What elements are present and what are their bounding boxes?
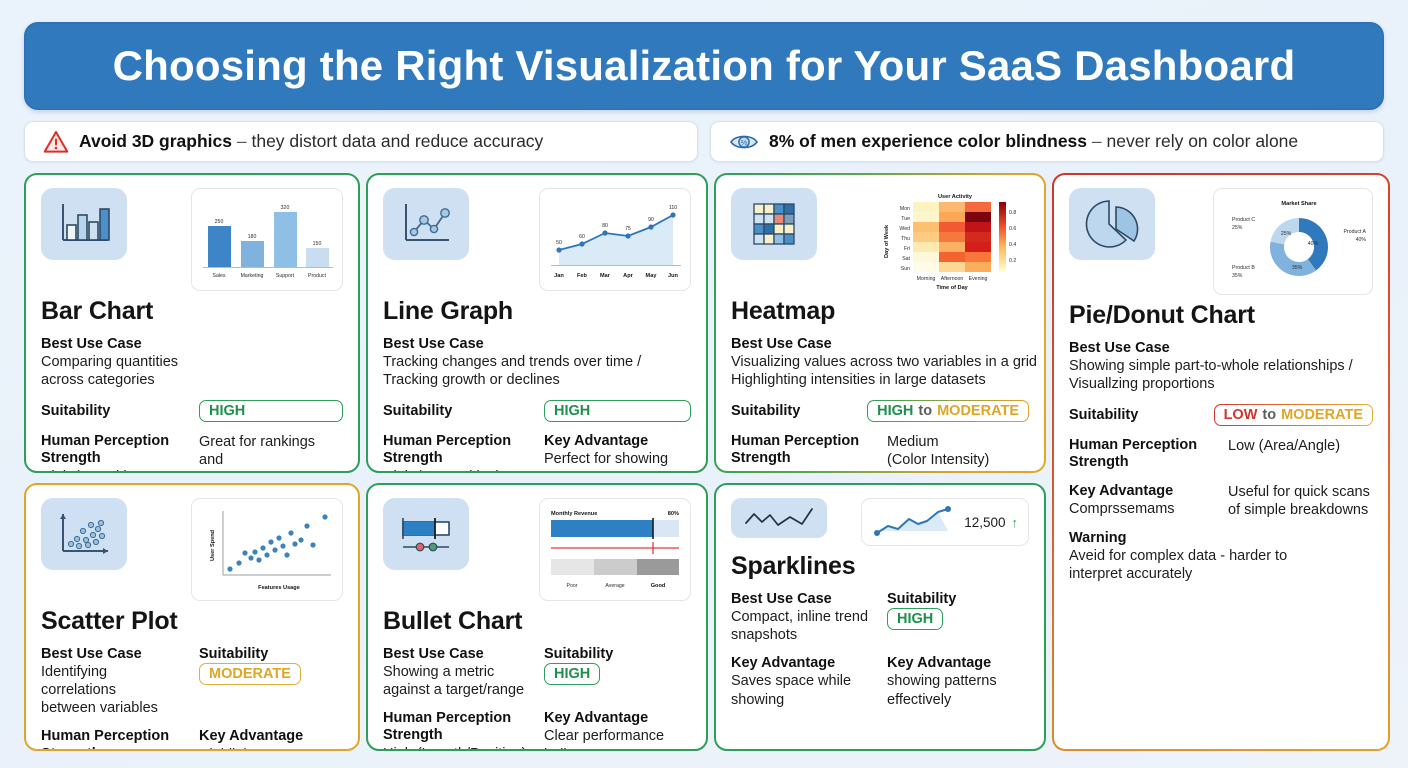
callout-avoid-3d-text: Avoid 3D graphics – they distort data an…	[79, 131, 543, 152]
svg-text:35%: 35%	[1232, 273, 1243, 279]
svg-text:Features Usage: Features Usage	[258, 585, 300, 591]
svg-text:25%: 25%	[1281, 231, 1292, 237]
scatter-plot-advantage-line1: Highlights relationships	[199, 746, 343, 751]
svg-text:Poor: Poor	[567, 583, 578, 589]
svg-text:60: 60	[579, 234, 585, 240]
bar-chart-perception-value: High (Length)	[41, 468, 185, 473]
line-graph-perception: Human Perception Strength High (2D Posit…	[383, 433, 530, 473]
heatmap-strength-label: Strength	[731, 450, 873, 467]
card-sparklines[interactable]: 12,500 ↑ Sparklines Best Use Case Compac…	[714, 483, 1046, 751]
sparklines-value: 12,500	[964, 515, 1005, 530]
sparklines-suitability-value: HIGH	[897, 611, 933, 627]
line-graph-advantage-line2: fluctuations and trends	[544, 469, 691, 473]
pie-donut-advantage-sub: Comprssemams	[1069, 500, 1214, 518]
scatter-plot-perception-label: Human Perception	[41, 728, 185, 745]
heatmap-perception-label: Human Perception	[731, 433, 873, 450]
line-graph-perception-label: Human Perception	[383, 433, 530, 450]
card-scatter-plot[interactable]: User Spend Features Usage	[24, 483, 360, 751]
svg-text:Product B: Product B	[1232, 265, 1255, 271]
bar-chart-perception-label: Human Perception	[41, 433, 185, 450]
card-line-graph-head: 50 60 80 75 90 110 Jan Feb Mar Apr May J…	[383, 188, 691, 291]
scatter-plot-top-row: Best Use Case Identifying correlations b…	[41, 646, 343, 728]
callout-color-blindness: % 8% of men experience color blindness –…	[710, 121, 1384, 162]
pie-donut-perception-row: Human Perception Strength Low (Area/Angl…	[1069, 437, 1373, 482]
callout-color-blindness-dash: –	[1087, 131, 1106, 151]
bullet-chart-perception-value: High (Length/Position)	[383, 745, 530, 751]
svg-text:320: 320	[281, 205, 290, 211]
svg-text:0.4: 0.4	[1009, 242, 1016, 248]
svg-text:Mar: Mar	[600, 273, 611, 279]
line-graph-advantage: Key Advantage Perfect for showing fluctu…	[544, 433, 691, 473]
sparklines-best-use: Best Use Case Compact, inline trend snap…	[731, 591, 873, 644]
svg-text:0.2: 0.2	[1009, 258, 1016, 264]
svg-text:50: 50	[556, 240, 562, 246]
svg-text:0.6: 0.6	[1009, 226, 1016, 232]
line-graph-bottom-row: Human Perception Strength High (2D Posit…	[383, 433, 691, 473]
pie-donut-suitability-badge: LOW to MODERATE	[1214, 404, 1373, 426]
svg-text:User Spend: User Spend	[210, 529, 216, 561]
svg-text:150: 150	[313, 241, 322, 247]
bullet-chart-suitability-label: Suitability	[544, 646, 691, 663]
bar-chart-suitability-label: Suitability	[41, 403, 185, 419]
bar-chart-strength-label: Strength	[41, 450, 185, 467]
bullet-chart-advantage-line2: indicators	[544, 746, 691, 751]
svg-text:Average: Average	[605, 583, 624, 589]
card-bullet-chart-head: Monthly Revenue 80% Poor Average Good	[383, 498, 691, 601]
card-heatmap-head: User Activity Day of Week MonT	[731, 188, 1029, 293]
bar-chart-best-use-line2: across categories	[41, 371, 343, 389]
bullet-chart-preview: Monthly Revenue 80% Poor Average Good	[539, 498, 691, 601]
svg-text:Time of Day: Time of Day	[936, 285, 968, 291]
card-bar-chart-title: Bar Chart	[41, 297, 343, 326]
bullet-chart-advantage-line1: Clear performance	[544, 727, 691, 745]
card-sparklines-head: 12,500 ↑	[731, 498, 1029, 546]
svg-text:40%: 40%	[1356, 237, 1367, 243]
card-bar-chart[interactable]: 250 180 320 150 Sales Marketing Support …	[24, 173, 360, 473]
card-heatmap[interactable]: User Activity Day of Week MonT	[714, 173, 1046, 473]
pie-donut-perception: Human Perception Strength	[1069, 437, 1214, 471]
sparklines-suitability-badge: HIGH	[887, 608, 943, 630]
heatmap-best-use-label: Best Use Case	[731, 336, 1029, 353]
heatmap-suitability-joiner: to	[918, 403, 932, 419]
sparklines-suitability-label: Suitability	[887, 591, 1029, 608]
bar-chart-suitability-row: Suitability HIGH	[41, 400, 343, 422]
bar-chart-best-use: Best Use Case Comparing quantities acros…	[41, 336, 343, 389]
bar-chart-bottom-row: Human Perception Strength High (Length) …	[41, 433, 343, 473]
bullet-chart-icon	[383, 498, 469, 570]
bullet-chart-suitability-value: HIGH	[554, 666, 590, 682]
pie-donut-warning: Warning Aveid for complex data - harder …	[1069, 530, 1373, 583]
heatmap-perception: Human Perception Strength	[731, 433, 873, 469]
bullet-chart-perception: Human Perception Strength High (Length/P…	[383, 710, 530, 751]
heatmap-perception-values: Medium (Color Intensity)	[887, 433, 1029, 469]
sparklines-preview: 12,500 ↑	[861, 498, 1029, 546]
pie-donut-advantage-line2: of simple breakdowns	[1228, 501, 1373, 519]
pie-donut-strength-label: Strength	[1069, 454, 1214, 471]
card-line-graph-title: Line Graph	[383, 297, 691, 326]
sparklines-advantage-right-line2: effectively	[887, 691, 1029, 709]
bar-chart-preview: 250 180 320 150 Sales Marketing Support …	[191, 188, 343, 291]
svg-text:Market Share: Market Share	[1281, 201, 1316, 207]
pie-donut-best-use-label: Best Use Case	[1069, 340, 1373, 357]
card-scatter-plot-title: Scatter Plot	[41, 607, 343, 636]
svg-text:35%: 35%	[1292, 265, 1303, 271]
scatter-plot-strength-label: Strength	[41, 746, 185, 751]
heatmap-suitability-part2: MODERATE	[937, 403, 1019, 419]
sparklines-best-use-line2: snapshots	[731, 626, 873, 644]
line-graph-icon	[383, 188, 469, 260]
card-pie-donut-title: Pie/Donut Chart	[1069, 301, 1373, 330]
heatmap-best-use-line2: Highlighting intensities in large datase…	[731, 371, 1029, 389]
line-graph-best-use: Best Use Case Tracking changes and trend…	[383, 336, 691, 389]
pie-donut-perception-label: Human Perception	[1069, 437, 1214, 454]
svg-text:Sales: Sales	[213, 273, 226, 279]
svg-text:Product: Product	[308, 273, 326, 279]
scatter-plot-advantage: Key Advantage Highlights relationships a…	[199, 728, 343, 751]
scatter-plot-suitability: Suitability MODERATE	[199, 646, 343, 717]
line-graph-strength-label: Strength	[383, 450, 530, 467]
heatmap-perception-line1: Medium	[887, 433, 1029, 451]
card-pie-donut-chart[interactable]: Market Share 40% 35% 25% Product A 40%	[1052, 173, 1390, 751]
scatter-plot-suitability-value: MODERATE	[209, 666, 291, 682]
pie-donut-advantage-label: Key Advantage	[1069, 483, 1214, 500]
pie-donut-perception-values: Low (Area/Angle)	[1228, 437, 1373, 471]
svg-text:Afternoon: Afternoon	[941, 276, 964, 282]
pie-donut-suitability-row: Suitability LOW to MODERATE	[1069, 404, 1373, 426]
bullet-chart-strength-label: Strength	[383, 727, 530, 744]
svg-text:40%: 40%	[1308, 241, 1319, 247]
heatmap-perception-line2: (Color Intensity)	[887, 451, 1029, 469]
callout-avoid-3d-bold: Avoid 3D graphics	[79, 131, 232, 151]
bullet-chart-best-use-line2: against a target/range	[383, 681, 530, 699]
svg-text:User Activity: User Activity	[938, 194, 973, 200]
svg-text:Product C: Product C	[1232, 217, 1255, 223]
svg-text:Good: Good	[651, 583, 666, 589]
sparklines-advantage-right: Key Advantage showing patterns effective…	[887, 655, 1029, 708]
card-heatmap-title: Heatmap	[731, 297, 1029, 326]
svg-text:110: 110	[669, 205, 677, 211]
bar-chart-advantage: Great for rankings and highlighting diff…	[199, 433, 343, 473]
bullet-chart-advantage-label: Key Advantage	[544, 710, 691, 727]
line-graph-suitability-badge: HIGH	[544, 400, 691, 422]
pie-donut-warning-line1: Aveid for complex data - harder to	[1069, 547, 1373, 565]
pie-chart-icon	[1069, 188, 1155, 260]
bar-chart-best-use-line1: Comparing quantities	[41, 353, 343, 371]
scatter-plot-advantage-label: Key Advantage	[199, 728, 343, 745]
trend-up-icon: ↑	[1012, 515, 1019, 530]
bullet-chart-suitability-badge: HIGH	[544, 663, 600, 685]
line-graph-perception-value: High (2D Position)	[383, 468, 530, 473]
pie-donut-advantage: Key Advantage Comprssemams	[1069, 483, 1214, 519]
svg-text:80%: 80%	[668, 511, 679, 517]
svg-text:Fri: Fri	[904, 246, 910, 252]
svg-text:Mon: Mon	[900, 206, 910, 212]
card-bar-chart-head: 250 180 320 150 Sales Marketing Support …	[41, 188, 343, 291]
callout-color-blindness-rest: never rely on color alone	[1107, 131, 1299, 151]
pie-donut-suitability-part2: MODERATE	[1281, 407, 1363, 423]
bullet-chart-best-use-label: Best Use Case	[383, 646, 530, 663]
scatter-plot-best-use: Best Use Case Identifying correlations b…	[41, 646, 185, 717]
heatmap-perception-row: Human Perception Strength Medium (Color …	[731, 433, 1029, 473]
scatter-plot-best-use-line2: between variables	[41, 699, 185, 717]
pie-donut-advantage-values: Useful for quick scans of simple breakdo…	[1228, 483, 1373, 519]
infographic-page: Choosing the Right Visualization for You…	[0, 0, 1408, 768]
svg-text:Monthly Revenue: Monthly Revenue	[551, 511, 597, 517]
heatmap-suitability-badge: HIGH to MODERATE	[867, 400, 1029, 422]
pie-donut-warning-label: Warning	[1069, 530, 1373, 547]
sparklines-top-row: Best Use Case Compact, inline trend snap…	[731, 591, 1029, 655]
bullet-chart-best-use-line1: Showing a metric	[383, 663, 530, 681]
sparkline-icon	[731, 498, 827, 538]
heatmap-suitability-part1: HIGH	[877, 403, 913, 419]
line-graph-preview: 50 60 80 75 90 110 Jan Feb Mar Apr May J…	[539, 188, 691, 291]
sparklines-advantage-right-line1: showing patterns	[887, 672, 1029, 690]
svg-text:Thu: Thu	[901, 236, 910, 242]
card-sparklines-title: Sparklines	[731, 552, 1029, 581]
sparklines-advantage-right-label: Key Advantage	[887, 655, 1029, 672]
svg-text:0.8: 0.8	[1009, 210, 1016, 216]
svg-text:25%: 25%	[1232, 225, 1243, 231]
bullet-chart-top-row: Best Use Case Showing a metric against a…	[383, 646, 691, 710]
svg-text:May: May	[646, 273, 658, 279]
callout-avoid-3d: Avoid 3D graphics – they distort data an…	[24, 121, 698, 162]
pie-donut-suitability-part1: LOW	[1224, 407, 1258, 423]
warning-triangle-icon	[43, 130, 69, 154]
sparklines-advantage-left-line2: showing	[731, 691, 873, 709]
sparklines-advantage-left: Key Advantage Saves space while showing	[731, 655, 873, 708]
pie-donut-perception-value: Low (Area/Angle)	[1228, 437, 1373, 455]
svg-text:Sat: Sat	[902, 256, 910, 262]
callout-color-blindness-bold: 8% of men experience color blindness	[769, 131, 1087, 151]
scatter-plot-suitability-label: Suitability	[199, 646, 343, 663]
callout-avoid-3d-rest: they distort data and reduce accuracy	[251, 131, 543, 151]
line-graph-suitability-label: Suitability	[383, 403, 530, 419]
line-graph-advantage-label: Key Advantage	[544, 433, 691, 450]
svg-text:Support: Support	[276, 273, 295, 279]
scatter-plot-best-use-label: Best Use Case	[41, 646, 185, 663]
bullet-chart-perception-label: Human Perception	[383, 710, 530, 727]
sparklines-advantage-left-label: Key Advantage	[731, 655, 873, 672]
svg-text:Jan: Jan	[554, 273, 564, 279]
scatter-plot-icon	[41, 498, 127, 570]
scatter-plot-perception: Human Perception Strength High (2D Posit…	[41, 728, 185, 751]
svg-text:Day of Week: Day of Week	[884, 224, 890, 258]
svg-text:75: 75	[625, 226, 631, 232]
bar-chart-advantage-line2: highlighting	[199, 470, 343, 473]
bullet-chart-advantage: Key Advantage Clear performance indicato…	[544, 710, 691, 751]
card-scatter-plot-head: User Spend Features Usage	[41, 498, 343, 601]
scatter-plot-best-use-line1: Identifying correlations	[41, 663, 185, 699]
scatter-plot-bottom-row: Human Perception Strength High (2D Posit…	[41, 728, 343, 751]
svg-text:250: 250	[215, 219, 224, 225]
line-graph-suitability-value: HIGH	[554, 403, 590, 419]
pie-donut-best-use: Best Use Case Showing simple part-to-who…	[1069, 340, 1373, 393]
callout-row: Avoid 3D graphics – they distort data an…	[24, 121, 1384, 162]
card-bullet-chart[interactable]: Monthly Revenue 80% Poor Average Good	[366, 483, 708, 751]
sparklines-bottom-row: Key Advantage Saves space while showing …	[731, 655, 1029, 719]
heatmap-best-use-line1: Visualizing values across two variables …	[731, 353, 1029, 371]
callout-avoid-3d-dash: –	[232, 131, 251, 151]
svg-text:180: 180	[248, 234, 257, 240]
pie-donut-preview: Market Share 40% 35% 25% Product A 40%	[1213, 188, 1373, 295]
pie-donut-advantage-row: Key Advantage Comprssemams Useful for qu…	[1069, 483, 1373, 530]
bar-chart-best-use-label: Best Use Case	[41, 336, 343, 353]
bar-chart-advantage-line1: Great for rankings and	[199, 433, 343, 469]
svg-text:Tue: Tue	[901, 216, 910, 222]
pie-donut-best-use-line2: Visuallzing proportions	[1069, 375, 1373, 393]
sparklines-best-use-line1: Compact, inline trend	[731, 608, 873, 626]
line-graph-suitability-row: Suitability HIGH	[383, 400, 691, 422]
bullet-chart-bottom-row: Human Perception Strength High (Length/P…	[383, 710, 691, 751]
sparklines-advantage-left-line1: Saves space while	[731, 672, 873, 690]
bullet-chart-suitability: Suitability HIGH	[544, 646, 691, 699]
heatmap-icon	[731, 188, 817, 260]
svg-text:Sun: Sun	[901, 266, 910, 272]
scatter-plot-suitability-badge: MODERATE	[199, 663, 301, 685]
line-graph-advantage-line1: Perfect for showing	[544, 450, 691, 468]
cards-grid: 250 180 320 150 Sales Marketing Support …	[24, 173, 1384, 751]
svg-text:Wed: Wed	[899, 226, 910, 232]
heatmap-suitability-label: Suitability	[731, 403, 853, 419]
card-bullet-chart-title: Bullet Chart	[383, 607, 691, 636]
pie-donut-advantage-line1: Useful for quick scans	[1228, 483, 1373, 501]
line-graph-best-use-line2: Tracking growth or declines	[383, 371, 691, 389]
eye-colorblind-icon: %	[729, 131, 759, 153]
heatmap-preview: User Activity Day of Week MonT	[877, 188, 1029, 293]
svg-text:Evening: Evening	[969, 276, 988, 282]
scatter-plot-preview: User Spend Features Usage	[191, 498, 343, 601]
bar-chart-perception: Human Perception Strength High (Length)	[41, 433, 185, 473]
bar-chart-icon	[41, 188, 127, 260]
pie-donut-warning-line2: interpret accurately	[1069, 565, 1373, 583]
pie-donut-suitability-label: Suitability	[1069, 407, 1200, 423]
sparklines-best-use-label: Best Use Case	[731, 591, 873, 608]
svg-text:Marketing: Marketing	[241, 273, 264, 279]
svg-text:%: %	[741, 138, 748, 147]
pie-donut-best-use-line1: Showing simple part-to-whole relationshi…	[1069, 357, 1373, 375]
page-title-bar: Choosing the Right Visualization for You…	[24, 22, 1384, 110]
bar-chart-suitability-badge: HIGH	[199, 400, 343, 422]
svg-text:Feb: Feb	[577, 273, 588, 279]
svg-text:80: 80	[602, 223, 608, 229]
bar-chart-suitability-value: HIGH	[209, 403, 245, 419]
svg-text:Morning: Morning	[917, 276, 936, 282]
pie-donut-suitability-joiner: to	[1262, 407, 1276, 423]
svg-text:Jun: Jun	[668, 273, 679, 279]
svg-text:Apr: Apr	[623, 273, 633, 279]
line-graph-best-use-label: Best Use Case	[383, 336, 691, 353]
card-pie-donut-head: Market Share 40% 35% 25% Product A 40%	[1069, 188, 1373, 295]
sparklines-suitability: Suitability HIGH	[887, 591, 1029, 644]
line-graph-best-use-line1: Tracking changes and trends over time /	[383, 353, 691, 371]
bullet-chart-best-use: Best Use Case Showing a metric against a…	[383, 646, 530, 699]
svg-text:90: 90	[648, 217, 654, 223]
card-line-graph[interactable]: 50 60 80 75 90 110 Jan Feb Mar Apr May J…	[366, 173, 708, 473]
page-title: Choosing the Right Visualization for You…	[113, 42, 1296, 90]
heatmap-suitability-row: Suitability HIGH to MODERATE	[731, 400, 1029, 422]
heatmap-best-use: Best Use Case Visualizing values across …	[731, 336, 1029, 389]
svg-text:Product A: Product A	[1344, 229, 1367, 235]
callout-color-blindness-text: 8% of men experience color blindness – n…	[769, 131, 1298, 152]
